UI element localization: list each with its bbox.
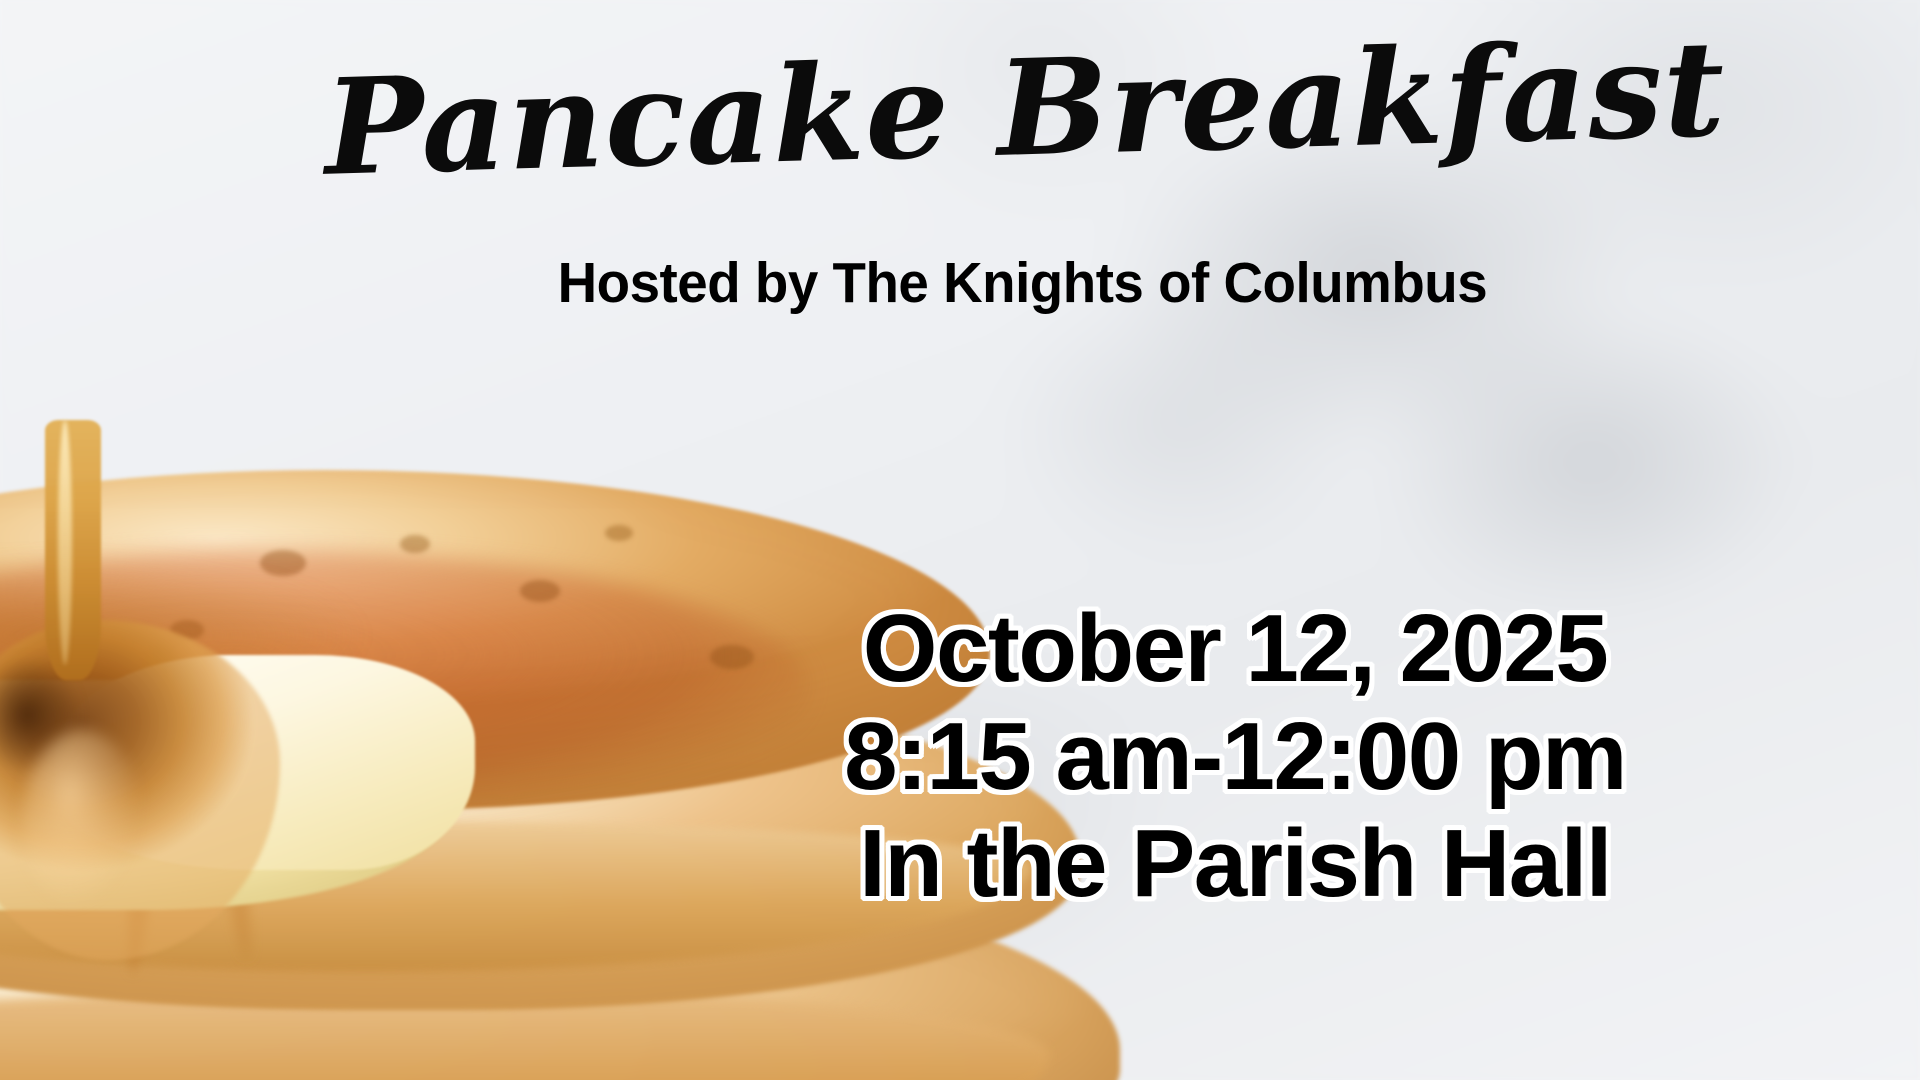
event-location: In the Parish Hall <box>590 810 1880 918</box>
syrup-blob-highlight-icon <box>22 730 142 910</box>
pancake-pore-icon <box>400 535 430 553</box>
pancake-breakfast-flyer: Pancake Breakfast Hosted by The Knights … <box>0 0 1920 1080</box>
pancake-pore-icon <box>605 525 633 541</box>
event-time: 8:15 am-12:00 pm <box>590 703 1880 811</box>
flyer-subtitle: Hosted by The Knights of Columbus <box>38 250 1881 316</box>
syrup-stream-highlight-icon <box>58 420 72 665</box>
event-details-block: October 12, 2025 8:15 am-12:00 pm In the… <box>590 595 1880 918</box>
syrup-pour-stream-icon <box>45 420 101 680</box>
event-date: October 12, 2025 <box>590 595 1880 703</box>
